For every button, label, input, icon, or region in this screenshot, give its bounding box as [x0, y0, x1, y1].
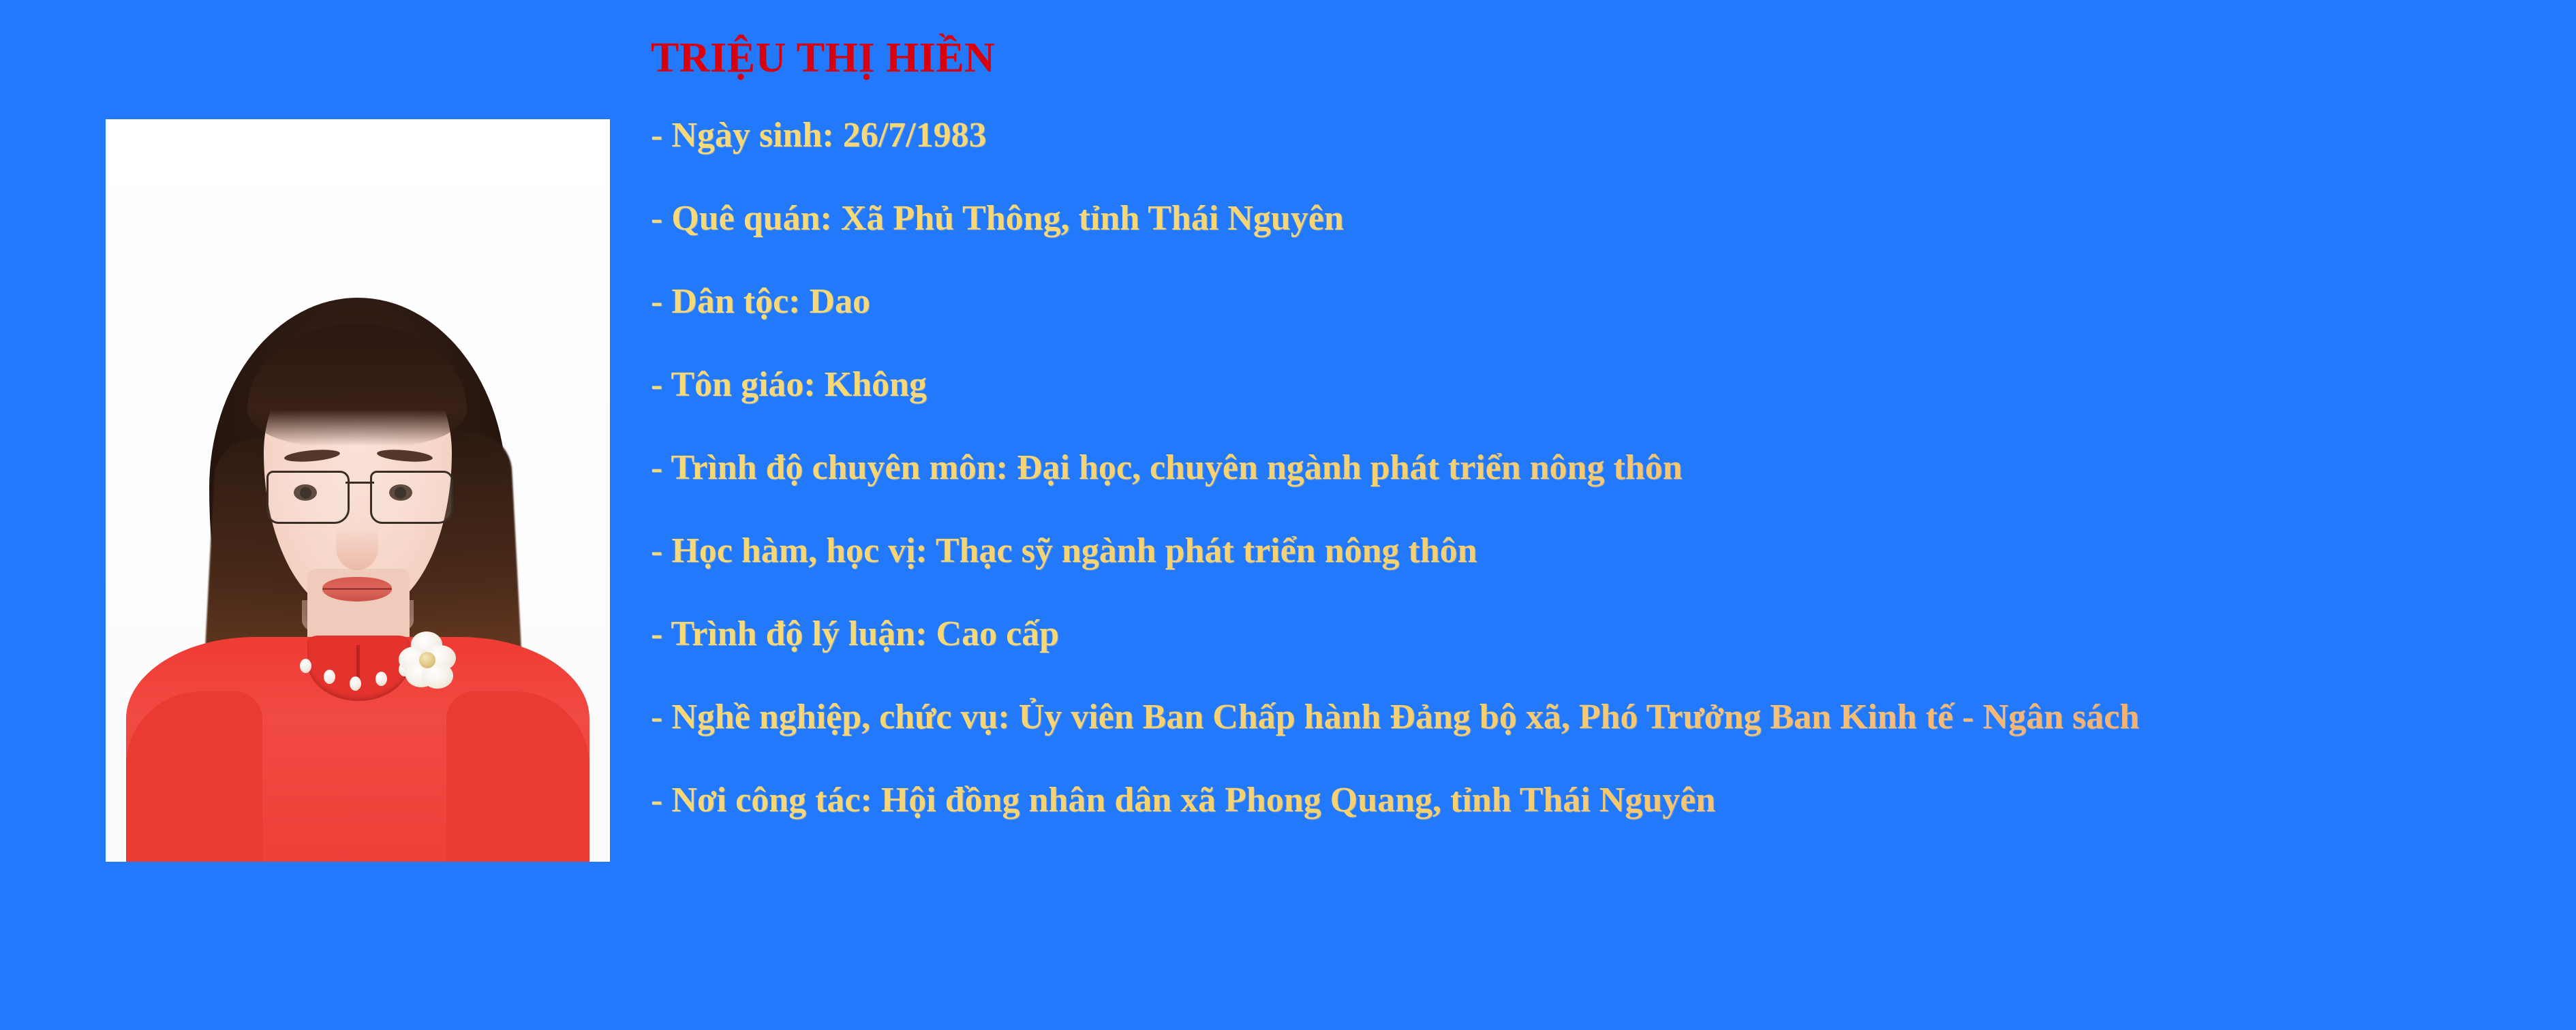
shoulder-left [126, 691, 262, 862]
profile-slide: TRIỆU THỊ HIỀN - Ngày sinh: 26/7/1983 - … [0, 0, 2576, 1030]
detail-trinh-do-chuyen-mon: - Trình độ chuyên môn: Đại học, chuyên n… [651, 426, 2532, 510]
detail-ngay-sinh: - Ngày sinh: 26/7/1983 [651, 94, 2532, 177]
detail-noi-cong-tac: - Nơi công tác: Hội đồng nhân dân xã Pho… [651, 759, 2532, 842]
glasses-icon [266, 471, 453, 527]
person-name: TRIỆU THỊ HIỀN [651, 33, 2532, 83]
chin [302, 600, 414, 641]
brooch-center [419, 652, 435, 668]
pearl-button [350, 676, 361, 691]
detail-dan-toc: - Dân tộc: Dao [651, 260, 2532, 343]
detail-ton-giao: - Tôn giáo: Không [651, 343, 2532, 426]
profile-details: TRIỆU THỊ HIỀN - Ngày sinh: 26/7/1983 - … [651, 33, 2532, 842]
glasses-bridge [346, 482, 374, 484]
detail-trinh-do-ly-luan: - Trình độ lý luận: Cao cấp [651, 593, 2532, 676]
nose [336, 527, 378, 570]
flower-brooch-icon [399, 631, 457, 691]
photo-background [106, 119, 610, 862]
glasses-lens-right [370, 471, 453, 524]
detail-nghe-nghiep-chuc-vu: - Nghề nghiệp, chức vụ: Ủy viên Ban Chấp… [651, 676, 2532, 759]
shoulder-right [446, 691, 589, 862]
portrait-photo [106, 119, 610, 862]
pearl-button [324, 670, 335, 684]
detail-que-quan: - Quê quán: Xã Phủ Thông, tỉnh Thái Nguy… [651, 177, 2532, 260]
pearl-button [300, 659, 311, 673]
glasses-lens-left [266, 471, 350, 524]
lip-line [322, 588, 392, 590]
pearl-button [375, 672, 387, 686]
detail-hoc-ham-hoc-vi: - Học hàm, học vị: Thạc sỹ ngành phát tr… [651, 510, 2532, 593]
